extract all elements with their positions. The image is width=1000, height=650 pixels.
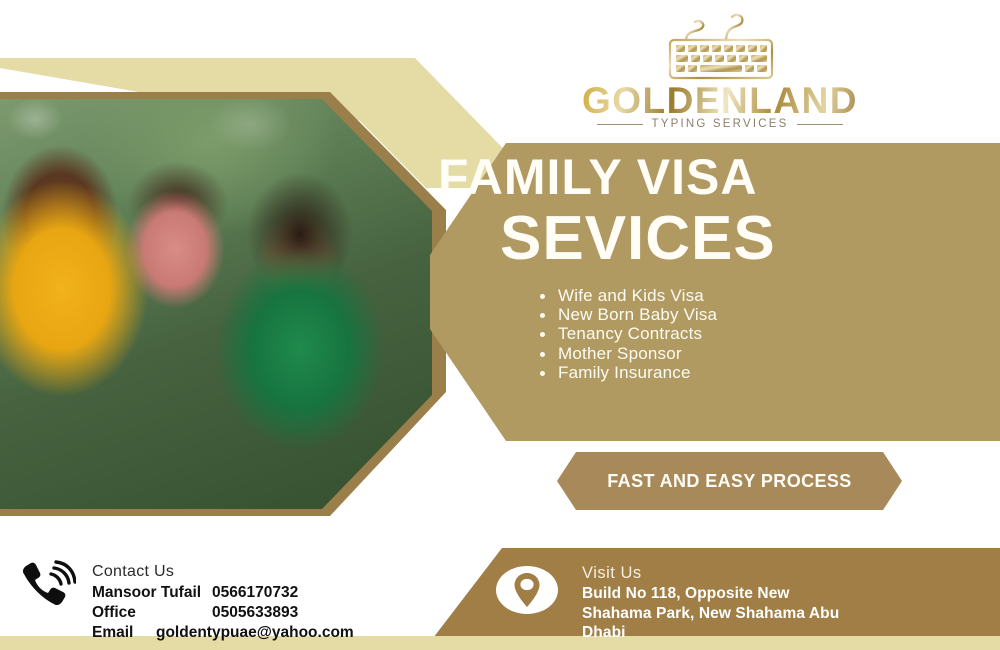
contact-phone-mobile[interactable]: 0566170732 bbox=[212, 583, 298, 603]
photo-clip bbox=[0, 99, 432, 509]
family-photo-container bbox=[0, 92, 446, 516]
list-item: Wife and Kids Visa bbox=[536, 286, 916, 305]
visit-block: Visit Us Build No 118, Opposite New Shah… bbox=[582, 563, 942, 643]
list-item: Tenancy Contracts bbox=[536, 324, 916, 343]
contact-row-office: Office 0505633893 bbox=[92, 603, 432, 623]
photo-highlight-overlay bbox=[0, 99, 432, 509]
tagline-rule-right bbox=[797, 124, 843, 125]
contact-block: Contact Us Mansoor Tufail 0566170732 Off… bbox=[92, 562, 432, 643]
contact-name-label: Mansoor Tufail bbox=[92, 583, 212, 603]
contact-phone-office[interactable]: 0505633893 bbox=[212, 603, 298, 623]
page-title-line2: SEVICES bbox=[500, 203, 920, 275]
visit-address-line3: Dhabi bbox=[582, 623, 942, 643]
location-pin-icon bbox=[496, 566, 558, 614]
contact-heading: Contact Us bbox=[92, 562, 432, 582]
contact-office-label: Office bbox=[92, 603, 212, 623]
contact-row-email: Email goldentypuae@yahoo.com bbox=[92, 623, 432, 643]
brand-tagline-row: TYPING SERVICES bbox=[570, 118, 870, 130]
brand-logo: GOLDENLAND TYPING SERVICES bbox=[570, 8, 870, 134]
contact-row-person: Mansoor Tufail 0566170732 bbox=[92, 583, 432, 603]
tagline-rule-left bbox=[597, 124, 643, 125]
visit-address-line1: Build No 118, Opposite New bbox=[582, 584, 942, 604]
page-title-line1: FAMILY VISA bbox=[438, 148, 908, 206]
contact-email-label: Email bbox=[92, 623, 156, 643]
services-list: Wife and Kids Visa New Born Baby Visa Te… bbox=[536, 286, 916, 382]
badge-label: FAST AND EASY PROCESS bbox=[607, 471, 851, 492]
fast-easy-process-badge: FAST AND EASY PROCESS bbox=[557, 452, 902, 510]
phone-ringing-icon bbox=[18, 560, 76, 612]
brand-tagline: TYPING SERVICES bbox=[652, 118, 789, 130]
list-item: Family Insurance bbox=[536, 363, 916, 382]
list-item: Mother Sponsor bbox=[536, 344, 916, 363]
keyboard-icon bbox=[662, 10, 780, 82]
visit-address-line2: Shahama Park, New Shahama Abu bbox=[582, 604, 942, 624]
visit-heading: Visit Us bbox=[582, 563, 942, 584]
brand-name: GOLDENLAND bbox=[570, 80, 870, 122]
contact-email-value[interactable]: goldentypuae@yahoo.com bbox=[156, 623, 354, 643]
list-item: New Born Baby Visa bbox=[536, 305, 916, 324]
